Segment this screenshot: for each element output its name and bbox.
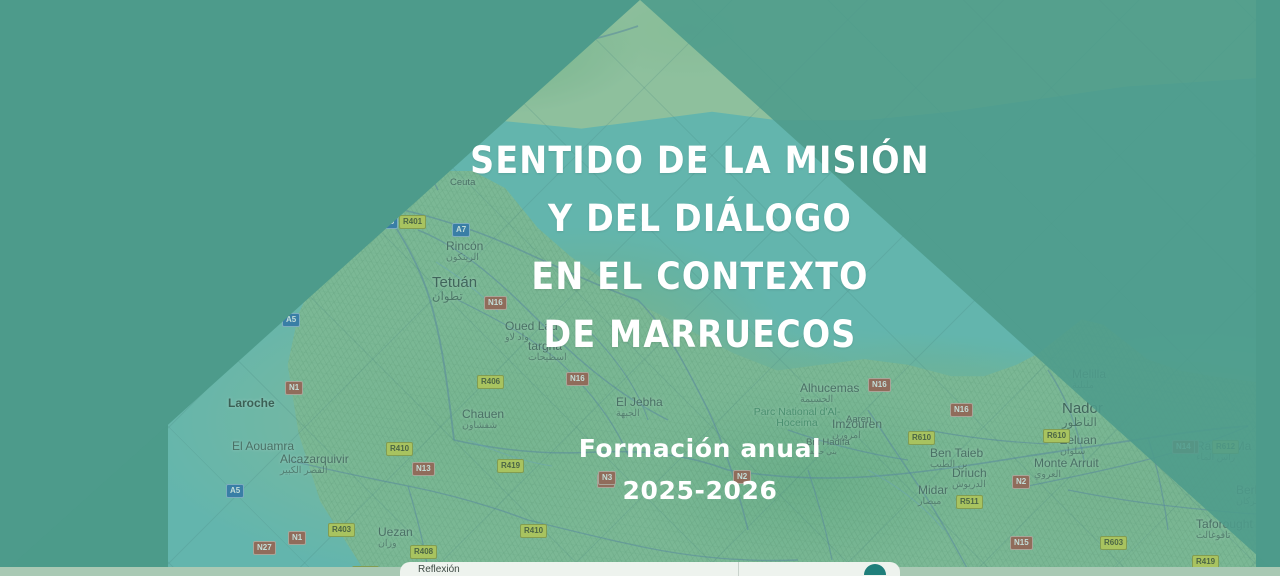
circle-indicator-icon [864,564,886,575]
bottom-card-text: Reflexión [418,564,460,575]
teal-overlay [0,0,1280,576]
bottom-card-divider [738,562,739,576]
bottom-peek-card[interactable]: Reflexión [400,562,900,576]
slide-root: Conil de la FronteraBarbateZahara de los… [0,0,1280,576]
